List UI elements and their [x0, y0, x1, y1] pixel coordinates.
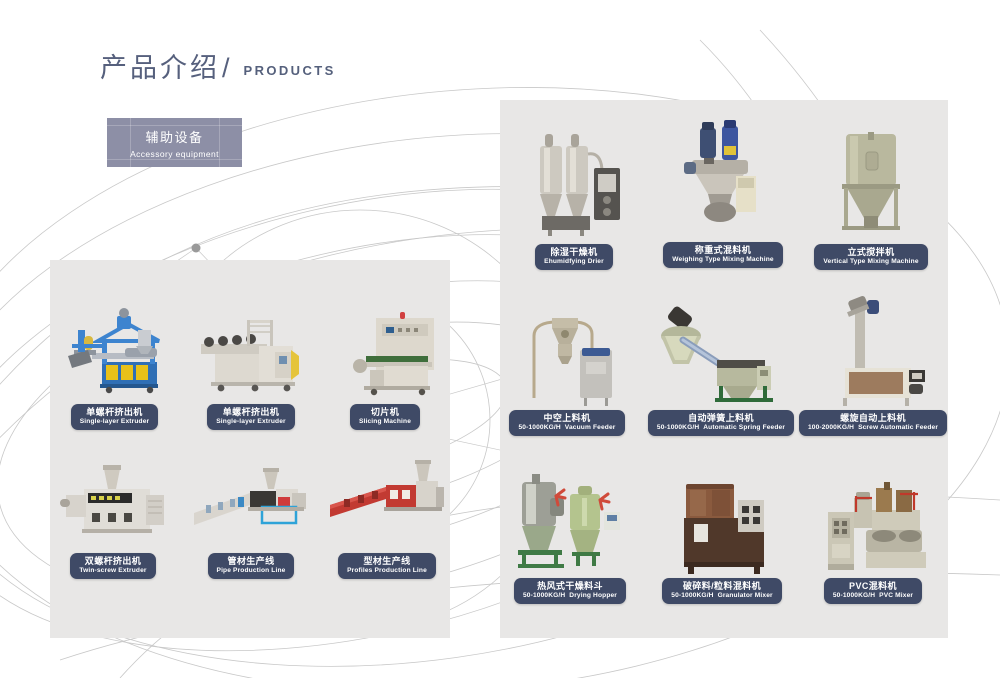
product-image-single-layer-extruder-b	[195, 300, 307, 400]
product-name-en: Profiles Production Line	[347, 567, 427, 575]
category-name-cn: 辅助设备	[145, 127, 203, 146]
product-label-badge[interactable]: PVC混料机 50-1000KG/H PVC Mixer	[824, 578, 922, 604]
product-label-badge[interactable]: 螺旋自动上料机 100-2000KG/H Screw Automatic Fee…	[799, 410, 947, 436]
product-name-en: Ehumidfying Drier	[544, 258, 604, 266]
product-name-cn: 单螺杆挤出机	[80, 407, 149, 417]
product-name-cn: 称重式混料机	[672, 245, 773, 255]
product-image-pvc-mixer	[806, 468, 940, 576]
product-cell[interactable]: 称重式混料机 Weighing Type Mixing Machine	[662, 118, 784, 268]
product-name-en: 50-1000KG/H Automatic Spring Feeder	[657, 424, 785, 432]
product-cell[interactable]: 管材生产线 Pipe Production Line	[192, 455, 310, 579]
product-cell[interactable]: 中空上料机 50-1000KG/H Vacuum Feeder	[508, 300, 626, 436]
product-label-badge[interactable]: 破碎料/粒料混料机 50-1000KG/H Granulator Mixer	[662, 578, 781, 604]
product-label-badge[interactable]: 立式搅拌机 Vertical Type Mixing Machine	[814, 244, 927, 270]
product-name-en: Single-layer Extruder	[216, 418, 285, 426]
product-name-en-text: Screw Automatic Feeder	[858, 424, 938, 431]
category-chip-accessory-equipment[interactable]: 辅助设备 Accessory equipment	[107, 118, 242, 167]
product-name-en: 50-1000KG/H Granulator Mixer	[671, 592, 772, 600]
product-image-profiles-production-line	[328, 455, 446, 547]
product-image-single-layer-extruder-a	[62, 300, 167, 400]
product-name-en: Weighing Type Mixing Machine	[672, 256, 773, 264]
product-label-badge[interactable]: 切片机 Slicing Machine	[350, 404, 420, 430]
product-name-en: Single-layer Extruder	[80, 418, 149, 426]
product-name-cn: 单螺杆挤出机	[216, 407, 285, 417]
product-name-en: 50-1000KG/H Drying Hopper	[523, 592, 617, 600]
product-label-badge[interactable]: 除湿干燥机 Ehumidfying Drier	[535, 244, 613, 270]
product-name-cn: 双螺杆挤出机	[79, 556, 146, 566]
product-name-cn: 螺旋自动上料机	[808, 413, 938, 423]
product-name-cn: 除湿干燥机	[544, 247, 604, 257]
product-spec: 50-1000KG/H	[657, 424, 699, 431]
product-name-en: 50-1000KG/H Vacuum Feeder	[518, 424, 615, 432]
product-label-badge[interactable]: 热风式干燥料斗 50-1000KG/H Drying Hopper	[514, 578, 626, 604]
product-name-en-text: PVC Mixer	[879, 592, 913, 599]
product-cell[interactable]: 破碎料/粒料混料机 50-1000KG/H Granulator Mixer	[660, 470, 784, 604]
product-label-badge[interactable]: 单螺杆挤出机 Single-layer Extruder	[71, 404, 158, 430]
product-label-badge[interactable]: 称重式混料机 Weighing Type Mixing Machine	[663, 242, 782, 268]
product-image-slicing-machine	[330, 300, 440, 400]
product-name-en: Vertical Type Mixing Machine	[823, 258, 918, 266]
product-image-vacuum-feeder	[508, 300, 626, 408]
page-title-en: PRODUCTS	[244, 63, 336, 78]
product-cell[interactable]: 立式搅拌机 Vertical Type Mixing Machine	[812, 126, 930, 270]
product-cell[interactable]: 双螺杆挤出机 Twin-screw Extruder	[58, 455, 168, 579]
product-name-cn: 切片机	[359, 407, 411, 417]
product-image-screw-automatic-feeder	[805, 294, 941, 408]
product-label-badge[interactable]: 管材生产线 Pipe Production Line	[208, 553, 295, 579]
product-name-cn: 热风式干燥料斗	[523, 581, 617, 591]
product-name-cn: 破碎料/粒料混料机	[671, 581, 772, 591]
product-cell[interactable]: 单螺杆挤出机 Single-layer Extruder	[195, 300, 307, 430]
product-label-badge[interactable]: 双螺杆挤出机 Twin-screw Extruder	[70, 553, 155, 579]
product-catalog-page: 产品介绍 / PRODUCTS 辅助设备 Accessory equipment	[0, 0, 1000, 678]
product-image-twin-screw-extruder	[58, 455, 168, 547]
product-cell[interactable]: 单螺杆挤出机 Single-layer Extruder	[62, 300, 167, 430]
product-name-cn: 立式搅拌机	[823, 247, 918, 257]
product-cell[interactable]: 型材生产线 Profiles Production Line	[328, 455, 446, 579]
product-label-badge[interactable]: 自动弹簧上料机 50-1000KG/H Automatic Spring Fee…	[648, 410, 794, 436]
product-name-en: Pipe Production Line	[217, 567, 286, 575]
product-cell[interactable]: 螺旋自动上料机 100-2000KG/H Screw Automatic Fee…	[805, 294, 941, 436]
product-cell[interactable]: 除湿干燥机 Ehumidfying Drier	[522, 130, 626, 270]
product-spec: 50-1000KG/H	[671, 592, 713, 599]
product-image-dehumidifying-drier	[522, 130, 626, 238]
product-cell[interactable]: 热风式干燥料斗 50-1000KG/H Drying Hopper	[508, 466, 632, 604]
product-name-en-text: Vacuum Feeder	[565, 424, 616, 431]
product-image-weighing-mixing-machine	[662, 118, 784, 238]
product-name-en: 50-1000KG/H PVC Mixer	[833, 592, 913, 600]
product-name-en: Twin-screw Extruder	[79, 567, 146, 575]
product-name-cn: 型材生产线	[347, 556, 427, 566]
product-name-en-text: Granulator Mixer	[718, 592, 773, 599]
product-image-drying-hopper	[508, 466, 632, 576]
product-cell[interactable]: PVC混料机 50-1000KG/H PVC Mixer	[806, 468, 940, 604]
product-name-en: 100-2000KG/H Screw Automatic Feeder	[808, 424, 938, 432]
product-spec: 50-1000KG/H	[518, 424, 560, 431]
product-spec: 100-2000KG/H	[808, 424, 854, 431]
product-spec: 50-1000KG/H	[523, 592, 565, 599]
product-name-cn: PVC混料机	[833, 581, 913, 591]
page-title: 产品介绍 / PRODUCTS	[100, 46, 336, 85]
product-image-automatic-spring-feeder	[655, 300, 787, 408]
product-cell[interactable]: 切片机 Slicing Machine	[330, 300, 440, 430]
product-label-badge[interactable]: 中空上料机 50-1000KG/H Vacuum Feeder	[509, 410, 624, 436]
product-label-badge[interactable]: 型材生产线 Profiles Production Line	[338, 553, 436, 579]
product-name-cn: 中空上料机	[518, 413, 615, 423]
product-name-en-text: Automatic Spring Feeder	[703, 424, 785, 431]
product-name-cn: 自动弹簧上料机	[657, 413, 785, 423]
product-name-cn: 管材生产线	[217, 556, 286, 566]
product-spec: 50-1000KG/H	[833, 592, 875, 599]
product-cell[interactable]: 自动弹簧上料机 50-1000KG/H Automatic Spring Fee…	[655, 300, 787, 436]
page-title-cn: 产品介绍	[100, 46, 220, 85]
title-slash: /	[222, 53, 230, 84]
product-name-en-text: Drying Hopper	[569, 592, 617, 599]
product-name-en: Slicing Machine	[359, 418, 411, 426]
category-name-en: Accessory equipment	[130, 149, 219, 159]
product-label-badge[interactable]: 单螺杆挤出机 Single-layer Extruder	[207, 404, 294, 430]
chip-grid-line-h2	[107, 159, 242, 160]
product-image-pipe-production-line	[192, 455, 310, 547]
product-image-granulator-mixer	[660, 470, 784, 576]
product-image-vertical-mixing-machine	[812, 126, 930, 238]
